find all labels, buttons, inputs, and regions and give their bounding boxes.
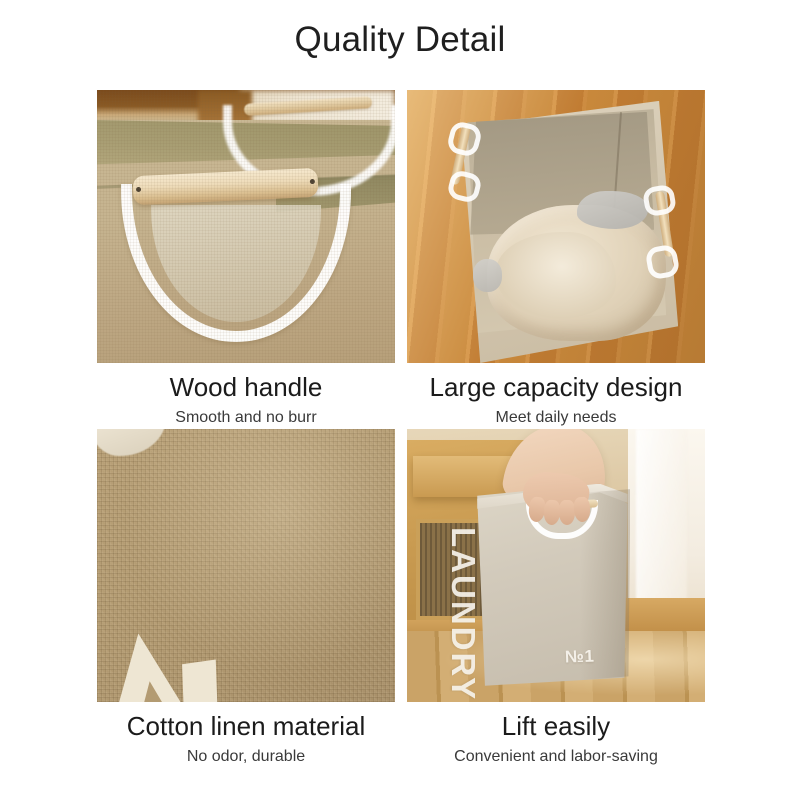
feature-card-large-capacity: Large capacity design Meet daily needs (407, 90, 705, 427)
feature-subtitle-large-capacity: Meet daily needs (407, 403, 705, 427)
photo4-curtain (636, 429, 687, 626)
feature-photo-wood-handle (97, 90, 395, 363)
photo4-number-print-text: №1 (565, 647, 595, 668)
photo1-front-handle (115, 169, 336, 322)
feature-title-lift-easily: Lift easily (407, 712, 705, 742)
feature-grid: Wood handle Smooth and no burr (97, 90, 705, 766)
photo2-folded-laundry-fold (496, 232, 615, 319)
photo2-grey-garment-secondary (473, 259, 503, 292)
page-title: Quality Detail (0, 20, 800, 60)
photo4-laundry-print-text: LAUNDRY (443, 527, 481, 694)
feature-subtitle-wood-handle: Smooth and no burr (97, 403, 395, 427)
feature-photo-cotton-linen (97, 429, 395, 702)
feature-title-cotton-linen: Cotton linen material (97, 712, 395, 742)
feature-card-wood-handle: Wood handle Smooth and no burr (97, 90, 395, 427)
caption-block-lift-easily: Lift easily Convenient and labor-saving (407, 702, 705, 766)
photo2-grey-garment (577, 191, 649, 229)
feature-card-lift-easily: LAUNDRY №1 Lift easily Convenient and la… (407, 429, 705, 766)
product-detail-page: Quality Detail (0, 0, 800, 800)
feature-card-cotton-linen: Cotton linen material No odor, durable (97, 429, 395, 766)
photo3-printed-letter-a-counter (130, 679, 176, 702)
feature-photo-large-capacity (407, 90, 705, 363)
photo3-printed-letter-partial (182, 659, 218, 702)
feature-photo-lift-easily: LAUNDRY №1 (407, 429, 705, 702)
photo1-front-handle-loop-inner (151, 205, 321, 322)
caption-block-cotton-linen: Cotton linen material No odor, durable (97, 702, 395, 766)
feature-title-large-capacity: Large capacity design (407, 373, 705, 403)
photo1-front-handle-loop (121, 184, 350, 342)
caption-block-wood-handle: Wood handle Smooth and no burr (97, 363, 395, 427)
caption-block-large-capacity: Large capacity design Meet daily needs (407, 363, 705, 427)
feature-subtitle-lift-easily: Convenient and labor-saving (407, 742, 705, 766)
feature-subtitle-cotton-linen: No odor, durable (97, 742, 395, 766)
feature-title-wood-handle: Wood handle (97, 373, 395, 403)
